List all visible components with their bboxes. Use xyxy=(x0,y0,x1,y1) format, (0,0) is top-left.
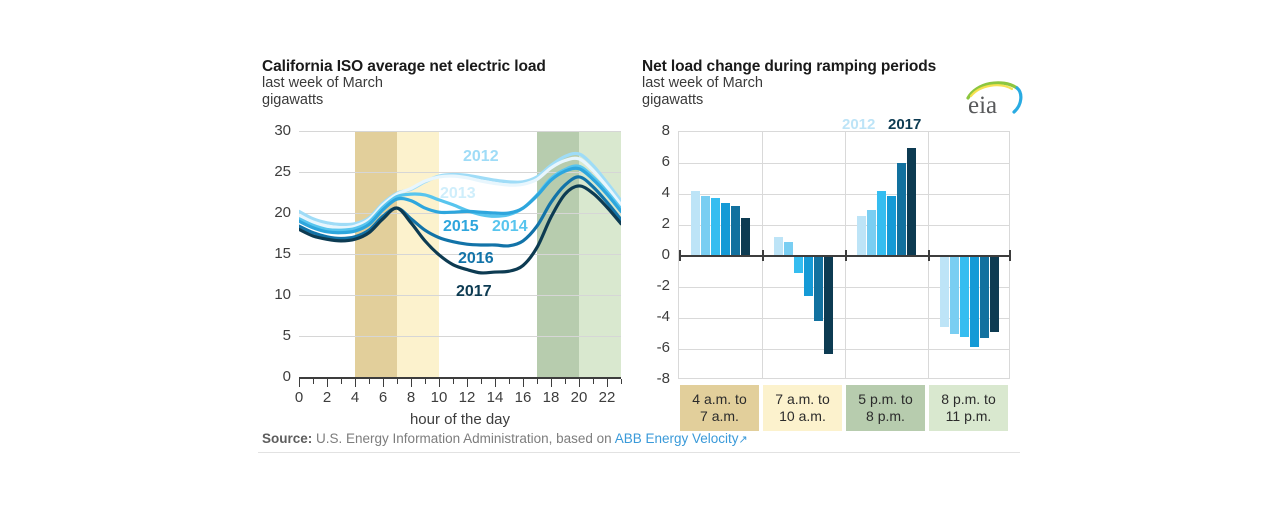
x-tick xyxy=(607,379,608,387)
bar-2017-group4 xyxy=(990,256,1000,332)
eia-wordmark: eia xyxy=(968,92,997,120)
bar-2013-group3 xyxy=(867,210,877,257)
gridline xyxy=(679,163,1009,164)
category-label-4: 8 p.m. to11 p.m. xyxy=(929,385,1008,431)
category-line-2: 11 p.m. xyxy=(946,408,992,424)
y-tick-label: 20 xyxy=(251,204,291,221)
x-tick xyxy=(439,379,440,387)
x-axis-line xyxy=(299,377,621,379)
x-tick xyxy=(523,379,524,387)
bar-2016-group1 xyxy=(731,206,741,256)
y-tick-label: 8 xyxy=(632,122,670,139)
category-line-2: 10 a.m. xyxy=(779,408,826,424)
bar-2016-group2 xyxy=(814,256,824,321)
x-tick xyxy=(537,379,538,384)
y-tick-label: 0 xyxy=(251,368,291,385)
bar-2014-group2 xyxy=(794,256,804,273)
bar-2015-group1 xyxy=(721,203,731,256)
x-tick-label: 18 xyxy=(537,389,565,406)
bar-2014-group3 xyxy=(877,191,887,256)
zero-tick xyxy=(845,250,847,261)
footer-divider xyxy=(258,452,1020,453)
bar-2017-group2 xyxy=(824,256,834,354)
x-tick xyxy=(327,379,328,387)
bar-2017-group1 xyxy=(741,218,751,256)
x-tick xyxy=(341,379,342,384)
series-label-2013: 2013 xyxy=(440,185,476,203)
bar-2015-group2 xyxy=(804,256,814,296)
right-chart-title: Net load change during ramping periods xyxy=(642,58,1032,75)
x-tick-label: 4 xyxy=(341,389,369,406)
source-footer: Source: U.S. Energy Information Administ… xyxy=(262,431,1022,446)
y-tick-label: 10 xyxy=(251,286,291,303)
bar-2014-group4 xyxy=(960,256,970,337)
bar-2012-group3 xyxy=(857,216,867,256)
x-tick-label: 22 xyxy=(593,389,621,406)
category-label-1: 4 a.m. to7 a.m. xyxy=(680,385,759,431)
category-label-3: 5 p.m. to8 p.m. xyxy=(846,385,925,431)
bar-2014-group1 xyxy=(711,198,721,256)
x-tick xyxy=(453,379,454,384)
right-chart-plot-area xyxy=(678,131,1010,379)
series-label-2017: 2017 xyxy=(456,283,492,301)
y-tick-label: 25 xyxy=(251,163,291,180)
category-line-1: 5 p.m. to xyxy=(858,391,912,407)
series-label-2016: 2016 xyxy=(458,250,494,268)
x-tick xyxy=(593,379,594,384)
eia-logo: eia xyxy=(962,79,1024,121)
y-tick-label: 5 xyxy=(251,327,291,344)
category-line-1: 7 a.m. to xyxy=(775,391,829,407)
x-tick xyxy=(565,379,566,384)
x-tick xyxy=(299,379,300,387)
x-tick xyxy=(425,379,426,384)
x-tick-label: 14 xyxy=(481,389,509,406)
series-label-2015: 2015 xyxy=(443,218,479,236)
y-tick-label: -6 xyxy=(632,339,670,356)
y-tick-label: -8 xyxy=(632,370,670,387)
left-chart-units: gigawatts xyxy=(262,92,632,109)
bar-2016-group4 xyxy=(980,256,990,338)
gridline xyxy=(679,194,1009,195)
zero-tick xyxy=(679,250,681,261)
y-tick-label: 15 xyxy=(251,245,291,262)
category-line-1: 4 a.m. to xyxy=(692,391,746,407)
bar-2015-group4 xyxy=(970,256,980,347)
infographic-canvas: California ISO average net electric load… xyxy=(0,0,1288,511)
x-tick xyxy=(481,379,482,384)
category-line-2: 8 p.m. xyxy=(866,408,905,424)
y-tick-label: 30 xyxy=(251,122,291,139)
y-tick-label: 4 xyxy=(632,184,670,201)
y-tick-label: 0 xyxy=(632,246,670,263)
y-tick-label: 6 xyxy=(632,153,670,170)
x-tick xyxy=(579,379,580,387)
external-link-icon: ↗ xyxy=(739,434,748,446)
x-tick-label: 0 xyxy=(285,389,313,406)
category-line-1: 8 p.m. to xyxy=(941,391,995,407)
x-tick-label: 20 xyxy=(565,389,593,406)
x-tick xyxy=(397,379,398,384)
x-tick xyxy=(551,379,552,387)
bar-2012-group4 xyxy=(940,256,950,327)
series-label-2014: 2014 xyxy=(492,218,528,236)
x-tick xyxy=(383,379,384,387)
legend-label-2017: 2017 xyxy=(888,116,921,133)
x-tick-label: 8 xyxy=(397,389,425,406)
left-chart-x-axis-title: hour of the day xyxy=(289,411,631,428)
x-tick xyxy=(621,379,622,384)
x-tick xyxy=(355,379,356,387)
x-tick xyxy=(467,379,468,387)
x-tick xyxy=(495,379,496,387)
bar-2012-group1 xyxy=(691,191,701,256)
source-label: Source: xyxy=(262,431,312,446)
bar-2017-group3 xyxy=(907,148,917,257)
x-tick-label: 10 xyxy=(425,389,453,406)
x-tick-label: 12 xyxy=(453,389,481,406)
x-tick xyxy=(509,379,510,384)
x-tick xyxy=(369,379,370,384)
y-tick-label: 2 xyxy=(632,215,670,232)
zero-tick xyxy=(928,250,930,261)
y-tick-label: -2 xyxy=(632,277,670,294)
category-label-2: 7 a.m. to10 a.m. xyxy=(763,385,842,431)
x-tick-label: 6 xyxy=(369,389,397,406)
bar-2013-group1 xyxy=(701,196,711,256)
left-chart-subtitle: last week of March xyxy=(262,75,632,92)
x-tick xyxy=(411,379,412,387)
y-tick-label: -4 xyxy=(632,308,670,325)
x-tick xyxy=(313,379,314,384)
gridline xyxy=(679,349,1009,350)
left-chart-title: California ISO average net electric load xyxy=(262,58,632,75)
bar-2013-group2 xyxy=(784,242,794,256)
source-text: U.S. Energy Information Administration, … xyxy=(312,431,614,446)
series-label-2012: 2012 xyxy=(463,148,499,166)
bar-2016-group3 xyxy=(897,163,907,256)
x-tick-label: 16 xyxy=(509,389,537,406)
x-tick-label: 2 xyxy=(313,389,341,406)
legend-label-2012: 2012 xyxy=(842,116,875,133)
bar-2015-group3 xyxy=(887,196,897,256)
bar-2013-group4 xyxy=(950,256,960,334)
bar-2012-group2 xyxy=(774,237,784,256)
zero-tick xyxy=(762,250,764,261)
zero-tick xyxy=(1009,250,1011,261)
category-line-2: 7 a.m. xyxy=(700,408,739,424)
source-link[interactable]: ABB Energy Velocity xyxy=(615,431,739,446)
